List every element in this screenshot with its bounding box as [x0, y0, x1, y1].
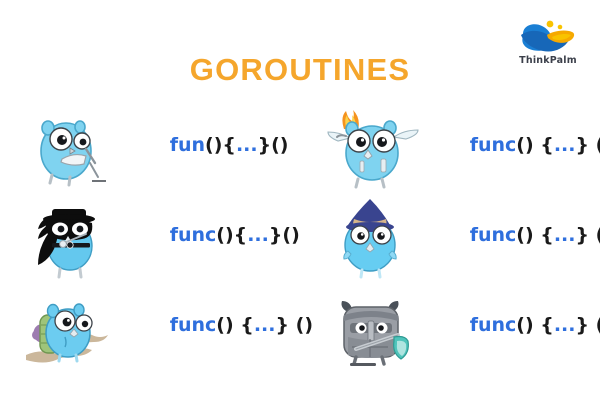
code-brace-open: { — [540, 314, 554, 336]
code-keyword: func — [470, 134, 517, 156]
page-title: GOROUTINES — [0, 52, 600, 88]
logo-dot-large — [547, 21, 554, 28]
code-keyword: func — [470, 314, 517, 336]
gopher-winged-torch-icon — [324, 101, 420, 189]
code-brace-open: { — [234, 224, 248, 246]
code-snippet: func() {...} () — [430, 202, 600, 268]
code-brace-close: } — [575, 134, 589, 156]
code-keyword: func — [170, 314, 217, 336]
code-dots: ... — [554, 224, 576, 246]
code-gap-2 — [589, 134, 596, 156]
code-brace-close: } — [258, 134, 272, 156]
code-snippet: func() {...} () — [130, 292, 313, 358]
gopher-writing-icon — [24, 101, 120, 189]
code-parens-2: () — [596, 314, 600, 336]
gopher-zorro-icon — [24, 191, 120, 279]
code-parens-1: () — [205, 134, 222, 156]
code-keyword: func — [470, 224, 517, 246]
code-snippet: func(){...}() — [130, 202, 300, 268]
code-brace-close: } — [575, 224, 589, 246]
code-parens-1: () — [516, 134, 533, 156]
gopher-knight-icon — [324, 281, 420, 369]
code-dots: ... — [236, 134, 258, 156]
code-gap-2 — [589, 314, 596, 336]
code-parens-1: () — [516, 224, 533, 246]
code-brace-close: } — [269, 224, 283, 246]
code-parens-2: () — [596, 134, 600, 156]
goroutine-row: func(){...}() — [0, 190, 300, 280]
code-dots: ... — [554, 314, 576, 336]
goroutine-row: func() {...} () — [300, 280, 600, 370]
code-gap-2 — [289, 314, 296, 336]
code-brace-open: { — [240, 314, 254, 336]
code-parens-1: () — [216, 224, 233, 246]
code-parens-1: () — [216, 314, 233, 336]
code-snippet: fun(){...}() — [130, 112, 289, 178]
code-keyword: fun — [170, 134, 205, 156]
code-snippet: func() {...} () — [430, 292, 600, 358]
code-brace-close: } — [575, 314, 589, 336]
code-dots: ... — [254, 314, 276, 336]
code-parens-1: () — [516, 314, 533, 336]
logo-dot-small — [558, 25, 563, 30]
goroutine-grid: fun(){...}() — [0, 100, 600, 370]
thinkpalm-logo-mark — [517, 18, 579, 56]
code-dots: ... — [554, 134, 576, 156]
goroutine-row: func() {...} () — [0, 280, 300, 370]
goroutine-row: fun(){...}() — [0, 100, 300, 190]
gopher-hiker-icon — [24, 281, 120, 369]
code-parens-2: () — [271, 134, 288, 156]
code-brace-close: } — [275, 314, 289, 336]
gopher-wizard-icon — [324, 191, 420, 279]
code-gap-2 — [589, 224, 596, 246]
code-dots: ... — [247, 224, 269, 246]
code-snippet: func() {...} () — [430, 112, 600, 178]
code-brace-open: { — [540, 224, 554, 246]
code-brace-open: { — [540, 134, 554, 156]
goroutine-row: func() {...} () — [300, 190, 600, 280]
code-keyword: func — [170, 224, 217, 246]
code-parens-2: () — [596, 224, 600, 246]
code-brace-open: { — [222, 134, 236, 156]
code-parens-2: () — [282, 224, 299, 246]
goroutine-row: func() {...} () — [300, 100, 600, 190]
